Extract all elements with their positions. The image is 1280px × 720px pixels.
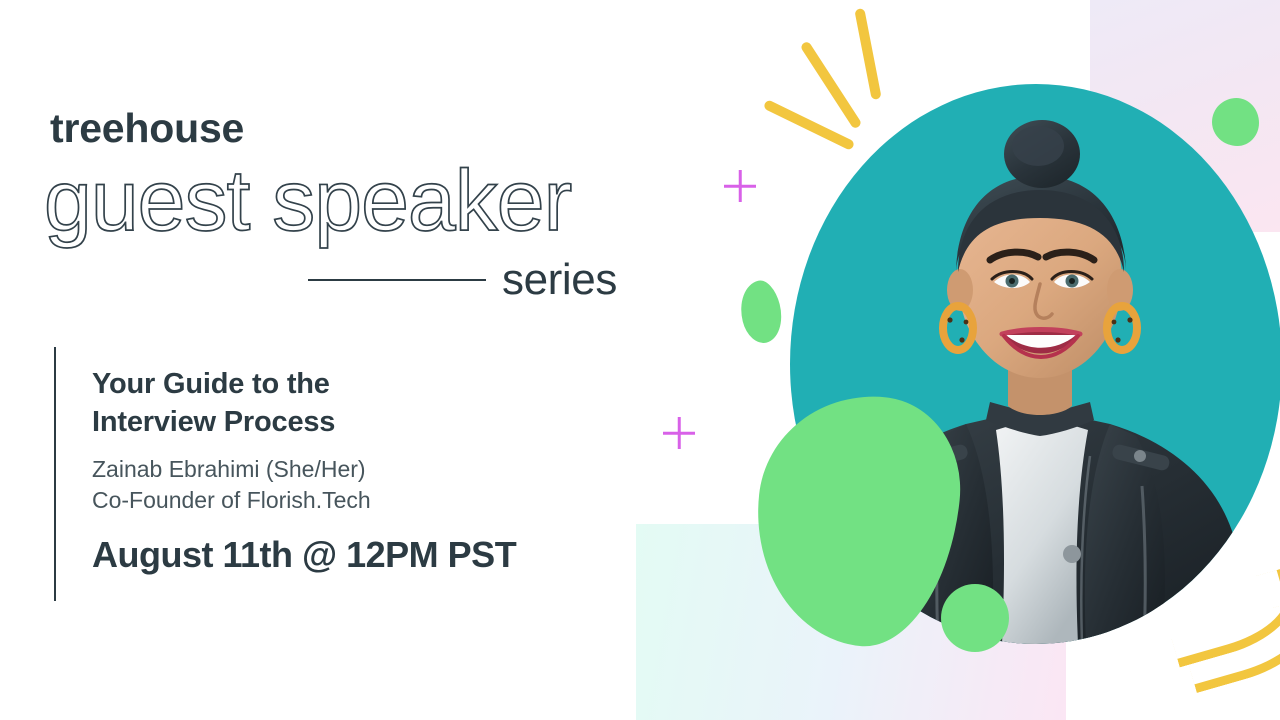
- plus-mark-icon: [663, 417, 695, 449]
- talk-title-line-1: Your Guide to the: [92, 368, 330, 400]
- event-datetime: August 11th @ 12PM PST: [92, 537, 612, 573]
- green-dot-top-right-icon: [1212, 98, 1259, 146]
- promo-banner: treehouse guest speaker series Your Guid…: [0, 0, 1280, 720]
- speaker-role: Co-Founder of Florish.Tech: [92, 485, 612, 517]
- event-details: Your Guide to the Interview Process Zain…: [92, 365, 612, 573]
- treehouse-wordmark: treehouse: [50, 108, 244, 149]
- speaker-name: Zainab Ebrahimi (She/Her): [92, 454, 612, 486]
- headline-outline-text: guest speaker: [44, 158, 571, 244]
- details-vertical-rule: [54, 347, 56, 601]
- green-blob-small-icon: [734, 277, 788, 347]
- plus-mark-icon: [724, 170, 756, 202]
- talk-title-line-2: Interview Process: [92, 406, 335, 438]
- series-label: series: [502, 258, 617, 302]
- series-divider-rule: [308, 279, 486, 281]
- green-dot-bottom-icon: [941, 584, 1009, 652]
- series-lockup: series: [308, 252, 624, 308]
- talk-title: Your Guide to the Interview Process: [92, 365, 612, 442]
